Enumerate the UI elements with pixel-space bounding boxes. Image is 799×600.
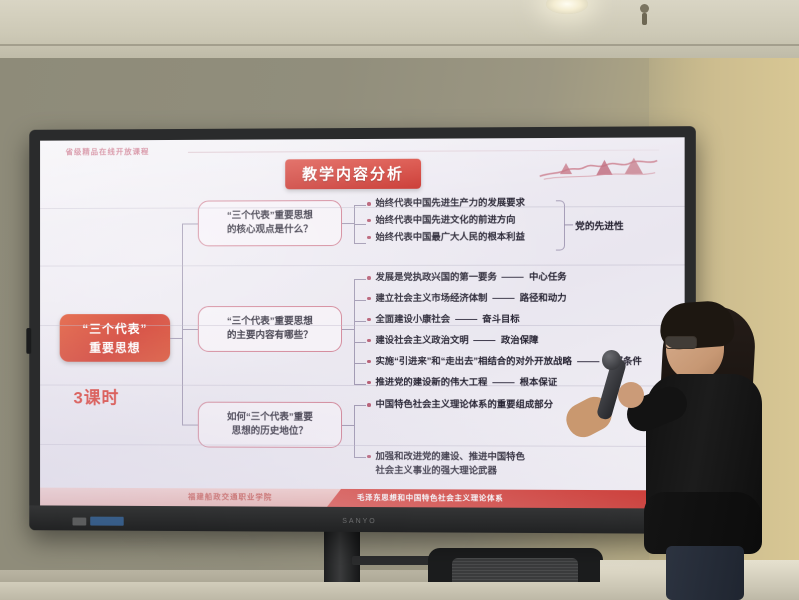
list-item: 建立社会主义市场经济体制路径和动力: [367, 292, 642, 306]
connector-b3-spine: [354, 405, 355, 457]
bullet-dot: [367, 219, 370, 223]
connector-b2-3: [354, 321, 366, 322]
question-1-line2: 的核心观点是什么？: [227, 223, 313, 237]
dash-connector: [455, 319, 477, 320]
bullet-tag: 中心任务: [529, 272, 567, 282]
glasses-icon: [665, 336, 697, 349]
branch-1-side-label: 党的先进性: [575, 218, 624, 232]
branch-1-brace: [556, 200, 565, 250]
list-item: 中国特色社会主义理论体系的重要组成部分: [367, 398, 553, 412]
connector-b3-in: [342, 425, 354, 426]
list-item: 始终代表中国先进文化的前进方向: [367, 213, 525, 227]
bullet-text-line2: 社会主义事业的强大理论武器: [375, 465, 496, 475]
slide-header-rule: [188, 150, 659, 153]
display-bottom-bezel: SANYO: [29, 505, 696, 533]
connector-b2-5: [354, 363, 366, 364]
bullet-dot: [367, 403, 370, 407]
bullet-text-multiline: 加强和改进党的建设、推进中国特色社会主义事业的强大理论武器: [375, 450, 524, 478]
list-item: 发展是党执政兴国的第一要务中心任务: [367, 271, 642, 285]
list-item: 始终代表中国最广大人民的根本利益: [367, 230, 525, 244]
bullet-text: 始终代表中国最广大人民的根本利益: [375, 230, 524, 244]
display-side-button[interactable]: [26, 328, 31, 354]
list-item: 始终代表中国先进生产力的发展要求: [367, 196, 525, 211]
slide-title-plate: 教学内容分析: [285, 159, 421, 190]
bullet-text: 实施“引进来”和“走出去”相结合的对外开放战略: [375, 356, 571, 366]
bullet-dot: [367, 455, 370, 459]
connector-b1-2: [354, 224, 366, 225]
bullet-tag: 奋斗目标: [482, 314, 519, 324]
list-item: 建设社会主义政治文明政治保障: [367, 334, 642, 348]
dash-connector: [577, 361, 599, 362]
connector-root-spine: [182, 224, 183, 425]
connector-b3-2: [354, 457, 366, 458]
screen-scanline: [40, 325, 685, 326]
mindmap-root-node: “三个代表” 重要思想: [60, 314, 170, 362]
branch-3-bullets: 中国特色社会主义理论体系的重要组成部分 加强和改进党的建设、推进中国特色社会主义…: [367, 398, 553, 482]
question-2-line1: “三个代表”重要思想: [227, 315, 313, 329]
bullet-dot: [367, 202, 370, 206]
bullet-text: 加强和改进党的建设、推进中国特色: [375, 451, 524, 462]
bullet-text: 发展是党执政兴国的第一要务: [375, 272, 496, 282]
presenter: [632, 300, 782, 600]
bullet-tag: 政治保障: [501, 335, 539, 345]
connector-b2-spine: [354, 279, 355, 385]
connector-root-out: [170, 338, 182, 339]
list-item: 推进党的建设新的伟大工程根本保证: [367, 376, 642, 390]
bullet-dot: [367, 339, 370, 343]
slide-header-text: 省级精品在线开放课程: [66, 146, 150, 157]
bullet-text: 建设社会主义政治文明: [375, 335, 468, 345]
question-box-3: 如何“三个代表”重要 思想的历史地位？: [198, 402, 342, 448]
bullet-dot: [367, 381, 370, 385]
fire-sprinkler-icon: [640, 4, 649, 13]
bullet-text: 建立社会主义市场经济体制: [375, 293, 487, 303]
connector-b1-1: [354, 205, 366, 206]
root-node-line1: “三个代表”: [82, 320, 147, 337]
page-title: 教学内容分析: [302, 166, 404, 183]
screen-scanline: [40, 444, 685, 447]
bullet-row: 发展是党执政兴国的第一要务中心任务: [375, 271, 566, 285]
connector-b1-3: [354, 243, 366, 244]
dash-connector: [492, 298, 514, 299]
bullet-row: 建立社会主义市场经济体制路径和动力: [375, 292, 566, 306]
list-item: 加强和改进党的建设、推进中国特色社会主义事业的强大理论武器: [367, 450, 553, 479]
question-3-line2: 思想的历史地位？: [232, 425, 308, 439]
microphone-head-icon: [602, 350, 621, 370]
bezel-badge: [72, 518, 86, 526]
presentation-slide: 省级精品在线开放课程 教学内容分析 “三个代表” 重要思想 3课: [40, 137, 685, 508]
connector-q1: [182, 223, 198, 224]
display-brand-label: SANYO: [342, 518, 376, 525]
connector-b2-in: [342, 329, 354, 330]
screen-scanline: [40, 385, 685, 387]
bullet-row: 推进党的建设新的伟大工程根本保证: [375, 376, 557, 390]
list-item: 实施“引进来”和“走出去”相结合的对外开放战略外部条件: [367, 355, 642, 369]
bullet-row: 建设社会主义政治文明政治保障: [375, 334, 538, 348]
question-3-line1: 如何“三个代表”重要: [227, 411, 313, 425]
lesson-hours-label: 3课时: [73, 384, 119, 409]
branch-1-brace-stem: [564, 224, 573, 225]
interactive-display[interactable]: 省级精品在线开放课程 教学内容分析 “三个代表” 重要思想 3课: [29, 126, 696, 534]
classroom-photo: 省级精品在线开放课程 教学内容分析 “三个代表” 重要思想 3课: [0, 0, 799, 600]
bullet-text: 中国特色社会主义理论体系的重要组成部分: [375, 398, 553, 412]
bullet-dot: [367, 276, 370, 280]
question-2-line2: 的主要内容有哪些？: [227, 329, 313, 343]
connector-b2-2: [354, 300, 366, 301]
bullet-dot: [367, 297, 370, 301]
connector-b1-in: [342, 223, 354, 224]
question-1-line1: “三个代表”重要思想: [227, 209, 313, 223]
connector-q2: [182, 329, 198, 330]
dash-connector: [502, 277, 524, 278]
bullet-dot: [367, 318, 370, 322]
bullet-dot: [367, 360, 370, 364]
presenter-hand: [618, 382, 644, 408]
ceiling-seam: [0, 44, 799, 46]
connector-q3: [182, 425, 198, 426]
bullet-text: 始终代表中国先进文化的前进方向: [375, 213, 515, 227]
connector-b3-1: [354, 405, 366, 406]
dash-connector: [492, 382, 514, 383]
question-box-2: “三个代表”重要思想 的主要内容有哪些？: [198, 306, 342, 352]
bullet-dot: [367, 236, 370, 240]
connector-b2-4: [354, 342, 366, 343]
bezel-sticker: [90, 517, 124, 526]
root-node-line2: 重要思想: [89, 339, 140, 356]
screen-scanline: [40, 264, 685, 266]
branch-1-bullets: 始终代表中国先进生产力的发展要求 始终代表中国先进文化的前进方向 始终代表中国最…: [367, 196, 525, 247]
bullet-tag: 路径和动力: [520, 293, 567, 303]
presenter-legs: [666, 546, 744, 600]
footer-school-name: 福建船政交通职业学院: [188, 491, 272, 502]
bullet-text: 始终代表中国先进生产力的发展要求: [375, 196, 524, 210]
presenter-jacket-hem: [644, 492, 762, 554]
display-bezel: 省级精品在线开放课程 教学内容分析 “三个代表” 重要思想 3课: [40, 137, 685, 508]
bullet-text: 全面建设小康社会: [375, 314, 450, 324]
screen-scanline: [40, 206, 685, 209]
ink-mountain-motif-icon: [538, 154, 659, 185]
footer-course-name: 毛泽东思想和中国特色社会主义理论体系: [357, 492, 503, 504]
branch-2-bullets: 发展是党执政兴国的第一要务中心任务 建立社会主义市场经济体制路径和动力 全面建设…: [367, 271, 642, 394]
dash-connector: [474, 340, 496, 341]
connector-b2-1: [354, 279, 366, 280]
ceiling: [0, 0, 799, 62]
